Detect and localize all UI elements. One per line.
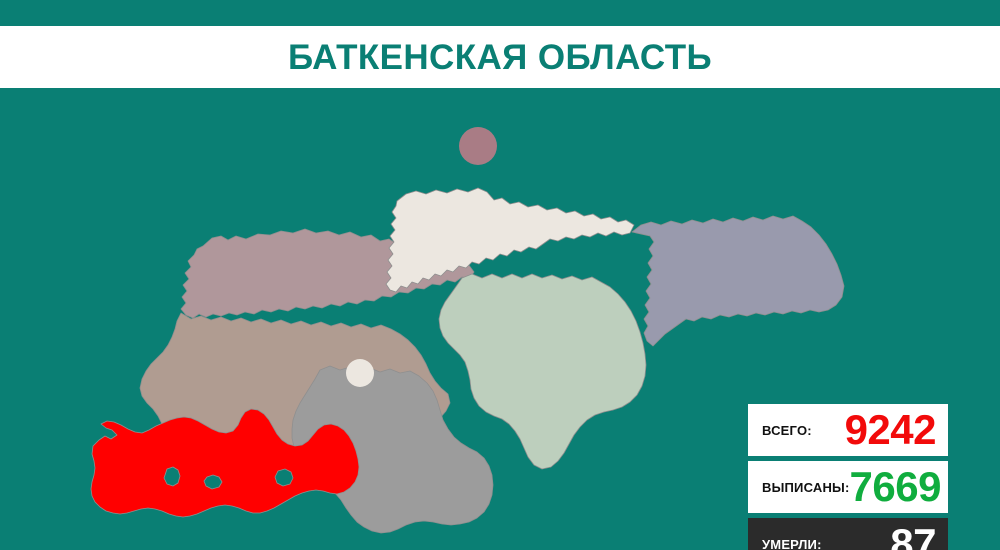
map-enclave-vorukh xyxy=(164,467,180,486)
top-accent-strip xyxy=(0,0,1000,26)
map-region-naryn[interactable] xyxy=(439,274,646,469)
stat-value-total: 9242 xyxy=(845,409,936,451)
infographic-screen: БАТКЕНСКАЯ ОБЛАСТЬ xyxy=(0,0,1000,550)
stat-label-total: ВСЕГО: xyxy=(762,424,812,437)
stat-label-recovered: ВЫПИСАНЫ: xyxy=(762,481,850,494)
stat-row: ВСЕГО: 9242 xyxy=(748,404,948,456)
header-band: БАТКЕНСКАЯ ОБЛАСТЬ xyxy=(0,26,1000,88)
stat-value-deaths: 87 xyxy=(890,523,936,550)
stat-label-deaths: УМЕРЛИ: xyxy=(762,538,822,550)
page-title: БАТКЕНСКАЯ ОБЛАСТЬ xyxy=(288,40,712,75)
stat-value-recovered: 7669 xyxy=(850,466,941,508)
stats-panel: ВСЕГО: 9242 ВЫПИСАНЫ: 7669 УМЕРЛИ: 87 xyxy=(748,404,948,550)
stat-row: УМЕРЛИ: 87 xyxy=(748,518,948,550)
city-marker-osh[interactable] xyxy=(346,359,374,387)
capital-marker-bishkek[interactable] xyxy=(459,127,497,165)
map-stage: ВСЕГО: 9242 ВЫПИСАНЫ: 7669 УМЕРЛИ: 87 xyxy=(0,88,1000,550)
map-enclave-shakhimardan xyxy=(275,469,293,486)
stat-row: ВЫПИСАНЫ: 7669 xyxy=(748,461,948,513)
map-region-issykkul[interactable] xyxy=(632,216,844,346)
